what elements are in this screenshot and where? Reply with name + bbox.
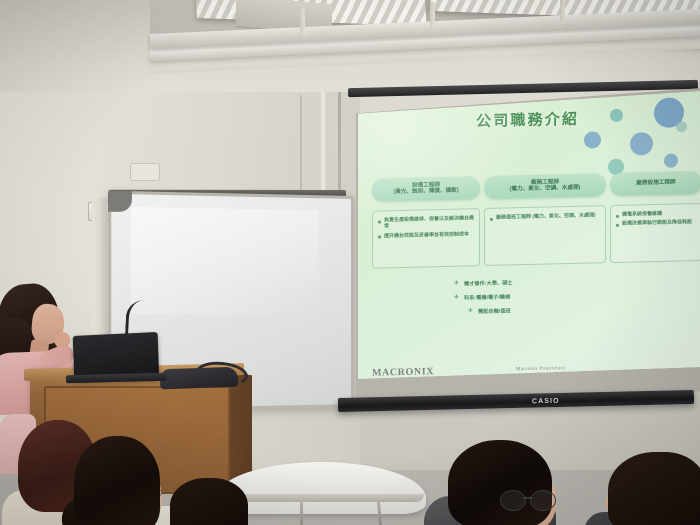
projector-screen: 公司職務介紹 設備工程師 (黃光、蝕刻、薄膜、擴散) 廠務工程師 (電力、氣化、 <box>356 88 700 404</box>
pill-line-2: (黃光、蝕刻、薄膜、擴散) <box>393 188 458 195</box>
decorative-circle <box>676 121 687 132</box>
bullet-dot-icon <box>616 214 619 217</box>
airplane-marker-icon: ✈ <box>454 295 459 301</box>
bullet-text: 設備改善與執行節能及降低耗能 <box>622 219 696 227</box>
job-bullet: 提升機台效能及妥善率並有效控制成本 <box>378 231 474 240</box>
glasses-lens-right <box>530 490 556 511</box>
audience-member-glasses <box>500 490 562 510</box>
presenter-nose <box>56 320 64 327</box>
requirement-item: ✈ 需配合輪/值班 <box>454 304 634 315</box>
decorative-circle <box>664 153 678 167</box>
ceiling-support <box>560 0 565 22</box>
audience-member-head <box>448 440 552 525</box>
laptop-bag <box>160 367 239 390</box>
requirements-list: ✈ 需才條件:大學、碩士 ✈ 科系:電機/電子/機械 ✈ 需配合輪/值班 <box>454 276 634 322</box>
job-bullet: 廠務值班工程師 (電力、氣化、空調、水處理) <box>490 212 600 221</box>
slide-content: 公司職務介紹 設備工程師 (黃光、蝕刻、薄膜、擴散) 廠務工程師 (電力、氣化、 <box>358 90 700 380</box>
whiteboard-corner-bracket <box>108 191 132 212</box>
projector-screen-surface: 公司職務介紹 設備工程師 (黃光、蝕刻、薄膜、擴散) 廠務工程師 (電力、氣化、 <box>358 90 700 380</box>
pill-line-2: (電力、氣化、空調、水處理) <box>510 185 581 193</box>
job-bullet: 負責生產設備維修、保養以及解決機台異常 <box>378 215 474 230</box>
job-card-facility-infrastructure-engineer: 機電系統保養維護 設備改善與執行節能及降低耗能 <box>610 203 700 263</box>
requirement-text: 科系:電機/電子/機械 <box>464 293 510 301</box>
job-description-cards: 負責生產設備維修、保養以及解決機台異常 提升機台效能及妥善率並有效控制成本 廠務… <box>368 203 694 273</box>
job-pill-facility-infrastructure-engineer: 廠務設施工程師 <box>610 171 700 196</box>
bullet-text: 負責生產設備維修、保養以及解決機台異常 <box>384 215 474 230</box>
airplane-marker-icon: ✈ <box>468 308 473 314</box>
ceiling-support <box>300 8 306 36</box>
bullet-dot-icon <box>616 224 619 227</box>
pill-line-1: 廠務設施工程師 <box>636 180 675 187</box>
table-leg <box>300 502 303 525</box>
slide-title: 公司職務介紹 <box>476 108 579 131</box>
job-pill-facility-engineer: 廠務工程師 (電力、氣化、空調、水處理) <box>484 173 606 199</box>
proprietary-notice: Macronix Proprietary <box>516 366 565 372</box>
airplane-marker-icon: ✈ <box>454 281 459 287</box>
wall-plate <box>130 163 160 181</box>
audience-member-head <box>74 436 160 525</box>
glasses-lens-left <box>500 490 526 511</box>
job-card-facility-engineer: 廠務值班工程師 (電力、氣化、空調、水處理) <box>484 205 606 266</box>
bullet-dot-icon <box>378 235 381 238</box>
decorative-circle <box>584 131 601 148</box>
bullet-text: 機電系統保養維護 <box>622 210 696 218</box>
projector-brand-label: CASIO <box>532 398 560 406</box>
whiteboard-glare <box>131 207 319 314</box>
audience-member-head <box>608 452 700 525</box>
bullet-text: 廠務值班工程師 (電力、氣化、空調、水處理) <box>496 212 600 221</box>
job-category-pills: 設備工程師 (黃光、蝕刻、薄膜、擴散) 廠務工程師 (電力、氣化、空調、水處理) <box>368 171 694 203</box>
bullet-dot-icon <box>378 220 381 223</box>
table-edge <box>218 494 424 502</box>
job-card-equipment-engineer: 負責生產設備維修、保養以及解決機台異常 提升機台效能及妥善率並有效控制成本 <box>372 208 480 269</box>
requirement-text: 需配合輪/值班 <box>478 307 511 315</box>
job-bullet: 設備改善與執行節能及降低耗能 <box>616 219 696 227</box>
job-bullet: 機電系統保養維護 <box>616 210 696 218</box>
audience-member-head <box>170 478 248 525</box>
requirement-item: ✈ 科系:電機/電子/機械 <box>454 290 634 301</box>
presentation-slide: 公司職務介紹 設備工程師 (黃光、蝕刻、薄膜、擴散) 廠務工程師 (電力、氣化、 <box>358 90 700 380</box>
decorative-circle <box>610 109 623 122</box>
ceiling-support <box>430 2 435 28</box>
requirement-item: ✈ 需才條件:大學、碩士 <box>454 276 634 287</box>
decorative-circle <box>630 132 653 156</box>
bullet-dot-icon <box>490 217 493 220</box>
classroom-scene: 公司職務介紹 設備工程師 (黃光、蝕刻、薄膜、擴散) 廠務工程師 (電力、氣化、 <box>0 0 700 525</box>
requirement-text: 需才條件:大學、碩士 <box>464 279 512 287</box>
bullet-text: 提升機台效能及妥善率並有效控制成本 <box>384 231 474 239</box>
job-pill-equipment-engineer: 設備工程師 (黃光、蝕刻、薄膜、擴散) <box>372 176 480 202</box>
